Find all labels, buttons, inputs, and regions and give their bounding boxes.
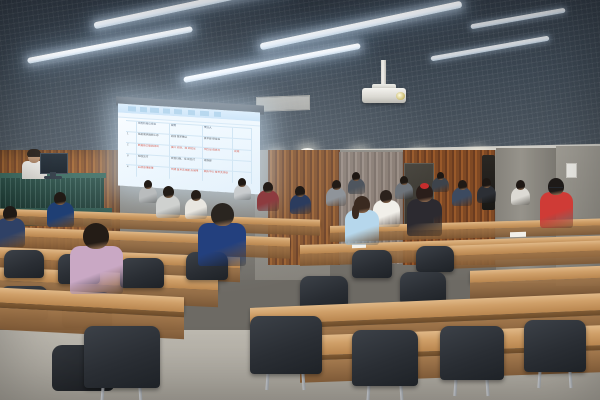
chair-leg xyxy=(399,384,403,400)
chair-leg xyxy=(138,386,142,400)
person-head xyxy=(83,223,109,249)
person-head xyxy=(482,178,491,188)
chair-leg xyxy=(485,378,489,396)
person-head xyxy=(3,206,17,221)
person-head xyxy=(54,192,66,205)
chair[interactable] xyxy=(416,246,454,272)
person-torso xyxy=(198,223,246,266)
chair[interactable] xyxy=(352,250,392,278)
person-torso xyxy=(257,190,279,211)
person-head xyxy=(211,203,234,226)
chair-leg xyxy=(265,372,269,390)
chair[interactable] xyxy=(250,316,322,374)
person-head xyxy=(263,182,273,193)
person-head xyxy=(238,178,246,187)
desk-paper xyxy=(510,232,526,238)
person-head xyxy=(516,180,525,190)
person-torso xyxy=(185,198,207,219)
lecture-hall-photo: 项目阶段与任务说明责任人1系统需求调研汇总完成 需求确认技术部 研发组2数据接口… xyxy=(0,0,600,400)
person-head xyxy=(352,172,360,181)
chair-leg xyxy=(100,386,104,400)
chair[interactable] xyxy=(440,326,504,380)
person-head xyxy=(144,180,152,189)
seating-and-audience xyxy=(0,0,600,400)
person-ponytail xyxy=(352,205,359,219)
chair-leg xyxy=(537,370,541,388)
person-head xyxy=(295,186,305,197)
person-head xyxy=(380,190,392,203)
chair-leg xyxy=(366,384,370,400)
chair[interactable] xyxy=(120,258,164,288)
person-torso xyxy=(290,194,311,214)
person-torso xyxy=(47,202,74,227)
person-hair-tie xyxy=(420,183,429,189)
chair-leg xyxy=(568,370,572,388)
person-head xyxy=(163,186,174,198)
chair[interactable] xyxy=(524,320,586,372)
person-torso xyxy=(345,210,379,245)
chair-leg xyxy=(453,378,457,396)
person-torso xyxy=(156,195,180,218)
person-torso xyxy=(407,199,442,236)
person-torso xyxy=(70,246,123,294)
person-head xyxy=(400,176,408,185)
person-head xyxy=(191,190,201,201)
person-head xyxy=(437,172,444,180)
chair[interactable] xyxy=(352,330,418,386)
person-torso xyxy=(540,192,573,228)
person-head xyxy=(332,180,341,190)
chair[interactable] xyxy=(84,326,160,388)
person-glasses-icon xyxy=(549,187,563,191)
person-torso xyxy=(0,218,25,247)
person-head xyxy=(458,180,467,190)
chair[interactable] xyxy=(4,250,44,278)
